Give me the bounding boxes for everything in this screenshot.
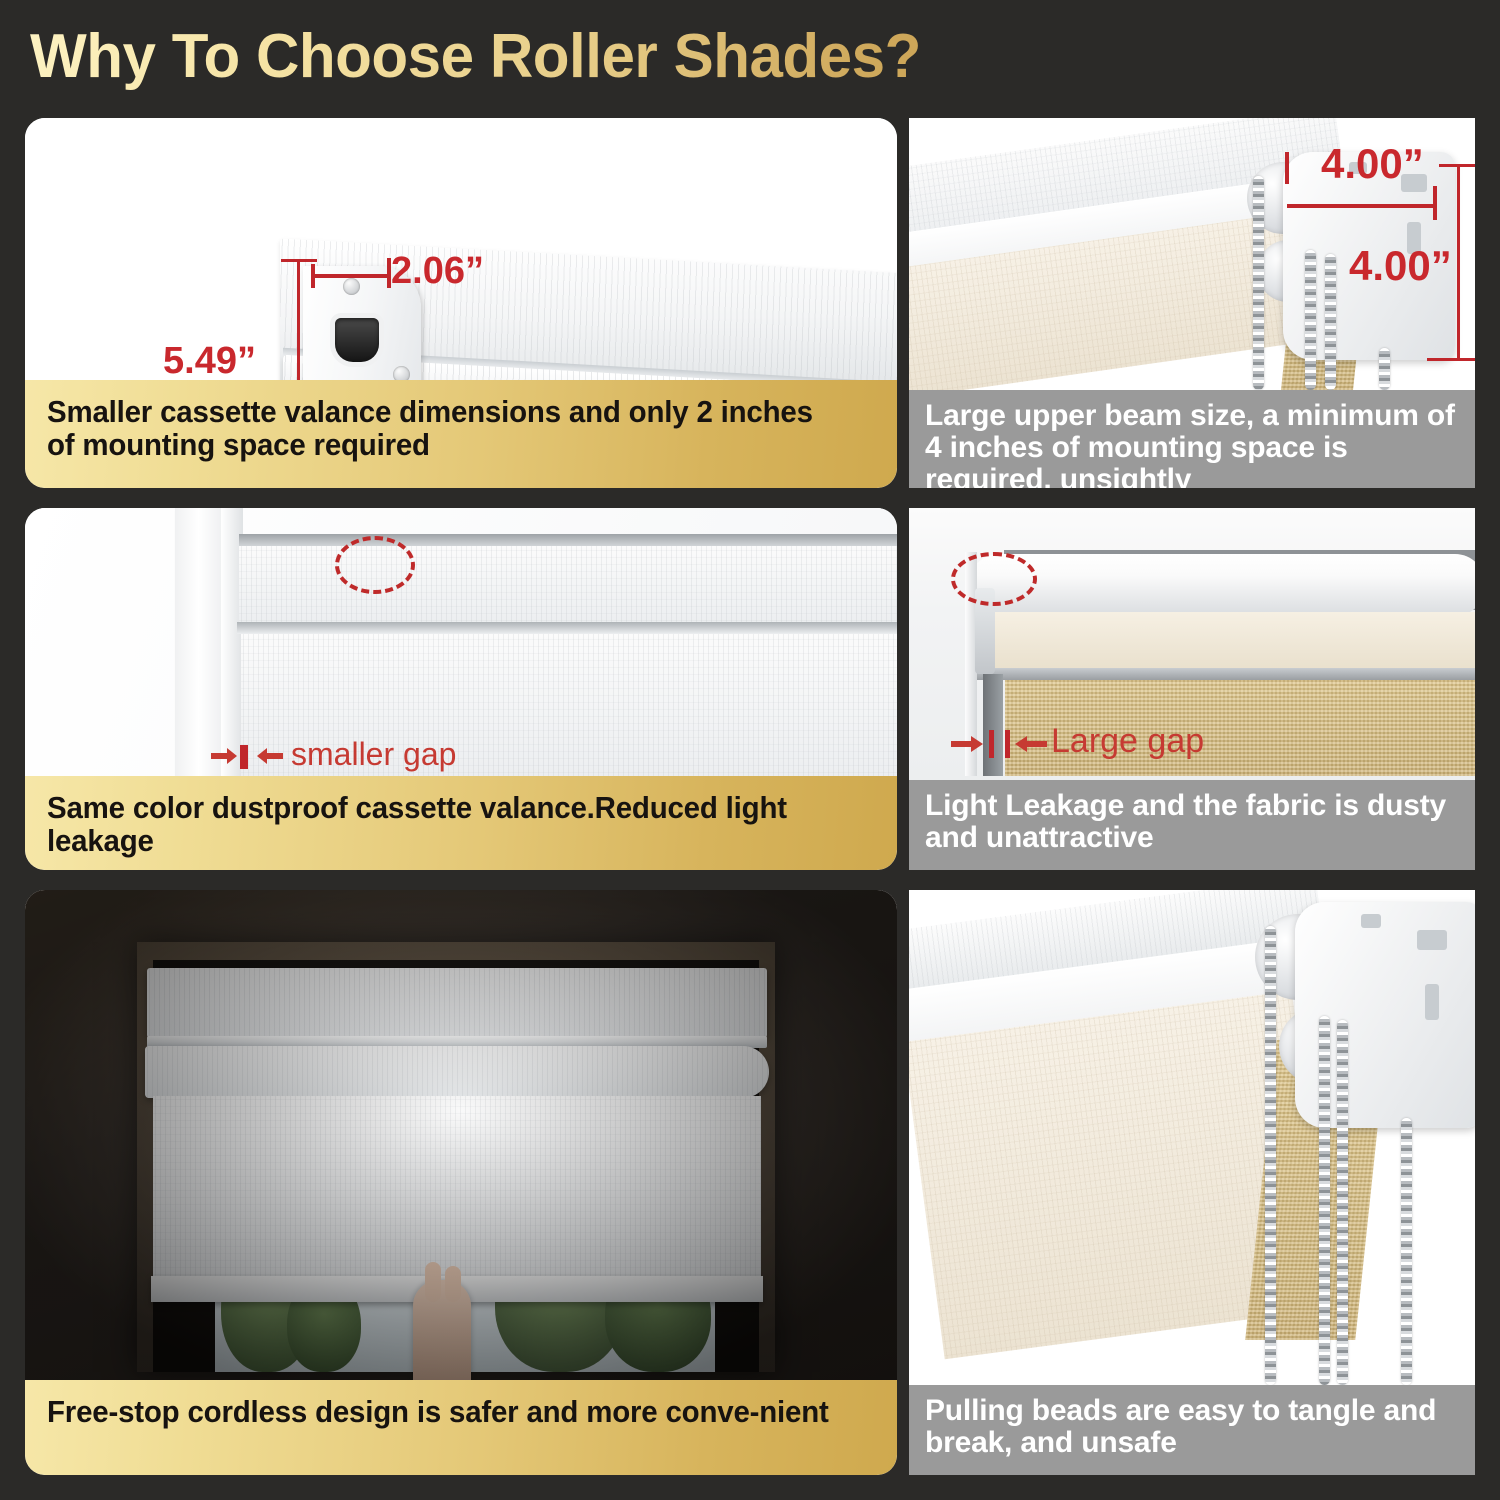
panel-4-image: Large gap [909, 508, 1475, 780]
light-gap-shadow [983, 674, 1003, 776]
panel-1-caption: Smaller cassette valance dimensions and … [25, 380, 897, 488]
dimension-label-height: 4.00” [1349, 242, 1452, 290]
gap-callout-label: smaller gap [291, 736, 456, 773]
gap-callout-label: Large gap [1051, 722, 1204, 761]
dimension-label-width: 4.00” [1321, 140, 1424, 188]
panel-2-caption-text: Large upper beam size, a minimum of 4 in… [925, 400, 1461, 488]
dimension-line-vertical [1457, 164, 1460, 360]
panel-6-caption: Pulling beads are easy to tangle and bre… [909, 1385, 1475, 1475]
dimension-line-vertical [297, 260, 300, 380]
dimension-line-horizontal [313, 274, 391, 278]
panel-1-image: 2.06” 5.49” [25, 118, 897, 380]
panel-large-upper-beam[interactable]: 4.00” 4.00” Large upper beam size, a min… [909, 118, 1475, 488]
bead-chain [1379, 348, 1390, 390]
dimension-line-horizontal [1287, 204, 1437, 208]
panel-pulling-beads[interactable]: Pulling beads are easy to tangle and bre… [909, 890, 1475, 1475]
panel-3-caption-text: Same color dustproof cassette valance.Re… [47, 792, 836, 858]
screw-icon [393, 366, 410, 380]
panel-1-caption-text: Smaller cassette valance dimensions and … [47, 396, 836, 462]
panel-3-caption: Same color dustproof cassette valance.Re… [25, 776, 897, 870]
bottom-rail [967, 668, 1475, 680]
arrow-left-icon [1015, 734, 1047, 754]
bead-chain [1265, 926, 1276, 1385]
panel-2-image: 4.00” 4.00” [909, 118, 1475, 390]
panel-4-caption: Light Leakage and the fabric is dusty an… [909, 780, 1475, 870]
panel-6-caption-text: Pulling beads are easy to tangle and bre… [925, 1395, 1461, 1459]
roller-tube [969, 554, 1475, 616]
panel-smaller-cassette[interactable]: 2.06” 5.49” Smaller cassette valance dim… [25, 118, 897, 488]
gap-marker [240, 745, 248, 769]
arrow-right-icon [211, 746, 237, 766]
panel-3-image: smaller gap [25, 508, 897, 776]
comparison-grid: 2.06” 5.49” Smaller cassette valance dim… [0, 0, 1500, 1500]
panel-6-image [909, 890, 1475, 1385]
dimension-label-height: 5.49” [163, 340, 256, 380]
panel-5-caption-text: Free-stop cordless design is safer and m… [47, 1396, 829, 1429]
dimension-tick [1285, 152, 1289, 184]
gap-marker [1005, 730, 1010, 758]
arrow-right-icon [951, 734, 983, 754]
highlight-circle [951, 552, 1037, 606]
highlight-circle [335, 536, 415, 594]
dimension-tick [1439, 164, 1475, 167]
panel-5-caption: Free-stop cordless design is safer and m… [25, 1380, 897, 1475]
bead-chain [1253, 176, 1264, 390]
panel-4-caption-text: Light Leakage and the fabric is dusty an… [925, 790, 1461, 854]
dimension-label-width: 2.06” [391, 250, 484, 293]
dimension-tick [1427, 358, 1475, 361]
panel-5-image [25, 890, 897, 1380]
panel-cordless-design[interactable]: Free-stop cordless design is safer and m… [25, 890, 897, 1475]
valance-cream-band [971, 612, 1475, 670]
cassette-seam [237, 622, 897, 634]
bead-chain [1325, 254, 1336, 390]
panel-2-caption: Large upper beam size, a minimum of 4 in… [909, 390, 1475, 488]
valance-slot [335, 318, 379, 362]
bead-chain [1319, 1016, 1330, 1385]
arrow-left-icon [257, 746, 283, 766]
panel-dustproof-cassette[interactable]: smaller gap Same color dustproof cassett… [25, 508, 897, 870]
screw-icon [343, 278, 360, 295]
gap-marker [989, 730, 994, 758]
bead-chain [1337, 1020, 1348, 1385]
dimension-tick [281, 259, 317, 262]
bead-chain [1305, 250, 1316, 390]
dimension-tick [311, 264, 315, 288]
panel-light-leakage[interactable]: Large gap Light Leakage and the fabric i… [909, 508, 1475, 870]
bead-chain [1401, 1118, 1412, 1385]
dimension-tick [1433, 186, 1437, 220]
